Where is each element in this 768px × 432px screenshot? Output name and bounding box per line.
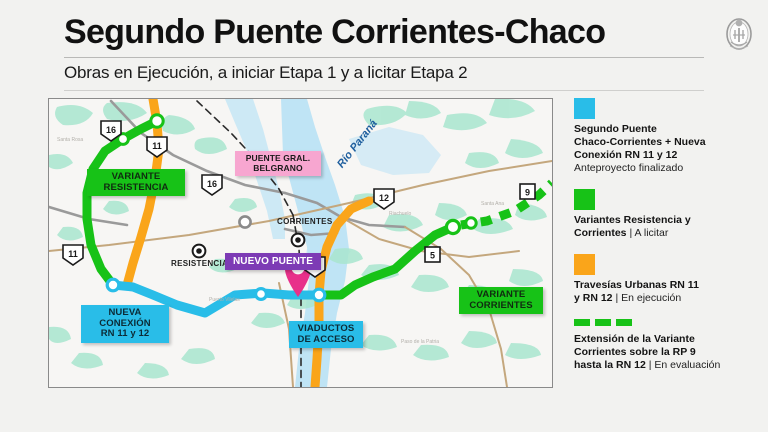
legend-item-travesias[interactable]: Travesías Urbanas RN 11 y RN 12 | En eje… bbox=[574, 254, 760, 305]
callout-puente-gral-belgrano[interactable]: PUENTE GRAL. BELGRANO bbox=[235, 151, 321, 176]
legend: Segundo Puente Chaco-Corrientes + Nueva … bbox=[574, 98, 760, 386]
route-shield-9: 9 bbox=[520, 184, 535, 199]
legend-title: Extensión de la Variante Corrientes sobr… bbox=[574, 333, 760, 372]
header-divider-bottom bbox=[64, 90, 704, 91]
legend-item-variantes[interactable]: Variantes Resistencia y Corrientes | A l… bbox=[574, 189, 760, 240]
callout-nuevo-puente[interactable]: NUEVO PUENTE bbox=[225, 253, 321, 270]
city-label-resistencia: RESISTENCIA bbox=[171, 259, 228, 268]
faint-place-0: Santa Rosa bbox=[57, 137, 83, 143]
city-label-corrientes: CORRIENTES bbox=[277, 217, 332, 226]
callout-variante-corrientes[interactable]: VARIANTE CORRIENTES bbox=[459, 287, 543, 314]
legend-item-extension-rp9[interactable]: Extensión de la Variante Corrientes sobr… bbox=[574, 319, 760, 372]
svg-text:11: 11 bbox=[152, 141, 162, 151]
legend-swatch-orange bbox=[574, 254, 595, 275]
legend-item-segundo-puente[interactable]: Segundo Puente Chaco-Corrientes + Nueva … bbox=[574, 98, 760, 175]
svg-text:16: 16 bbox=[207, 179, 217, 189]
route-shield-5: 5 bbox=[425, 247, 440, 262]
legend-status: En ejecución bbox=[621, 292, 681, 304]
legend-title: Segundo Puente Chaco-Corrientes + Nueva … bbox=[574, 123, 760, 162]
infographic-root: Segundo Puente Corrientes-Chaco Obras en… bbox=[0, 0, 768, 432]
legend-title: Variantes Resistencia y Corrientes | A l… bbox=[574, 214, 760, 240]
legend-swatch-cyan bbox=[574, 98, 595, 119]
faint-place-1: Puerto Vilelas bbox=[209, 297, 240, 303]
legend-status: A licitar bbox=[635, 227, 669, 239]
faint-place-3: Riachuelo bbox=[389, 211, 411, 217]
legend-swatch-green bbox=[574, 189, 595, 210]
legend-title: Travesías Urbanas RN 11 y RN 12 | En eje… bbox=[574, 279, 760, 305]
map-canvas[interactable]: 16 11 16 11 12 12 bbox=[48, 98, 553, 388]
callout-variante-resistencia[interactable]: VARIANTE RESISTENCIA bbox=[87, 169, 185, 196]
legend-swatch-green-dashed bbox=[574, 319, 632, 326]
svg-text:12: 12 bbox=[379, 193, 389, 203]
page-subtitle: Obras en Ejecución, a iniciar Etapa 1 y … bbox=[64, 63, 724, 83]
page-title: Segundo Puente Corrientes-Chaco bbox=[64, 12, 704, 52]
argentina-coat-of-arms-icon bbox=[722, 12, 756, 54]
callout-viaductos-de-acceso[interactable]: VIADUCTOS DE ACCESO bbox=[289, 321, 363, 348]
svg-text:5: 5 bbox=[430, 251, 435, 261]
svg-text:11: 11 bbox=[68, 249, 78, 259]
legend-status: Anteproyecto finalizado bbox=[574, 162, 760, 175]
svg-text:9: 9 bbox=[525, 188, 530, 198]
faint-place-5: Paso de la Patria bbox=[401, 339, 439, 345]
faint-place-4: Santa Ana bbox=[481, 201, 504, 207]
svg-text:16: 16 bbox=[106, 125, 116, 135]
legend-status: En evaluación bbox=[654, 359, 720, 371]
callout-nueva-conexion[interactable]: NUEVA CONEXIÓN RN 11 y 12 bbox=[81, 305, 169, 343]
header-divider-top bbox=[64, 57, 704, 58]
